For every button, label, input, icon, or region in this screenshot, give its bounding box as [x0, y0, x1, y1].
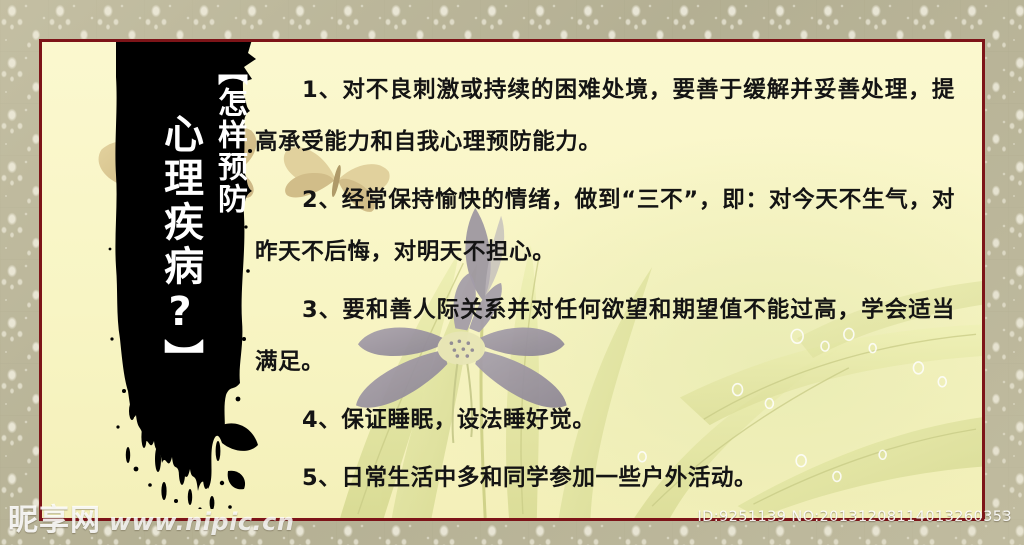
watermark-id-line: ID:9251139 NO:20131208114013260353: [697, 509, 1012, 525]
body-item-5: 5、日常生活中多和同学参加一些户外活动。: [255, 452, 955, 504]
watermark-site-url: www.nipic.cn: [109, 508, 294, 536]
body-item-3: 3、要和善人际关系并对任何欲望和期望值不能过高，学会适当满足。: [255, 284, 955, 388]
watermark-site-name: 昵享网: [8, 495, 101, 539]
body-item-4: 4、保证睡眠，设法睡好觉。: [255, 394, 955, 446]
watermark-left: 昵享网 www.nipic.cn: [8, 495, 294, 539]
ink-brush-banner: [72, 39, 262, 509]
poster-canvas: 【怎样预防 心理疾病?】 1、对不良刺激或持续的困难处境，要善于缓解并妥善处理，…: [0, 0, 1024, 545]
body-text-block: 1、对不良刺激或持续的困难处境，要善于缓解并妥善处理，提高承受能力和自我心理预防…: [255, 64, 955, 510]
poster-frame: 【怎样预防 心理疾病?】 1、对不良刺激或持续的困难处境，要善于缓解并妥善处理，…: [39, 39, 985, 521]
body-item-2: 2、经常保持愉快的情绪，做到“三不”，即：对今天不生气，对昨天不后悔，对明天不担…: [255, 174, 955, 278]
body-item-1: 1、对不良刺激或持续的困难处境，要善于缓解并妥善处理，提高承受能力和自我心理预防…: [255, 64, 955, 168]
